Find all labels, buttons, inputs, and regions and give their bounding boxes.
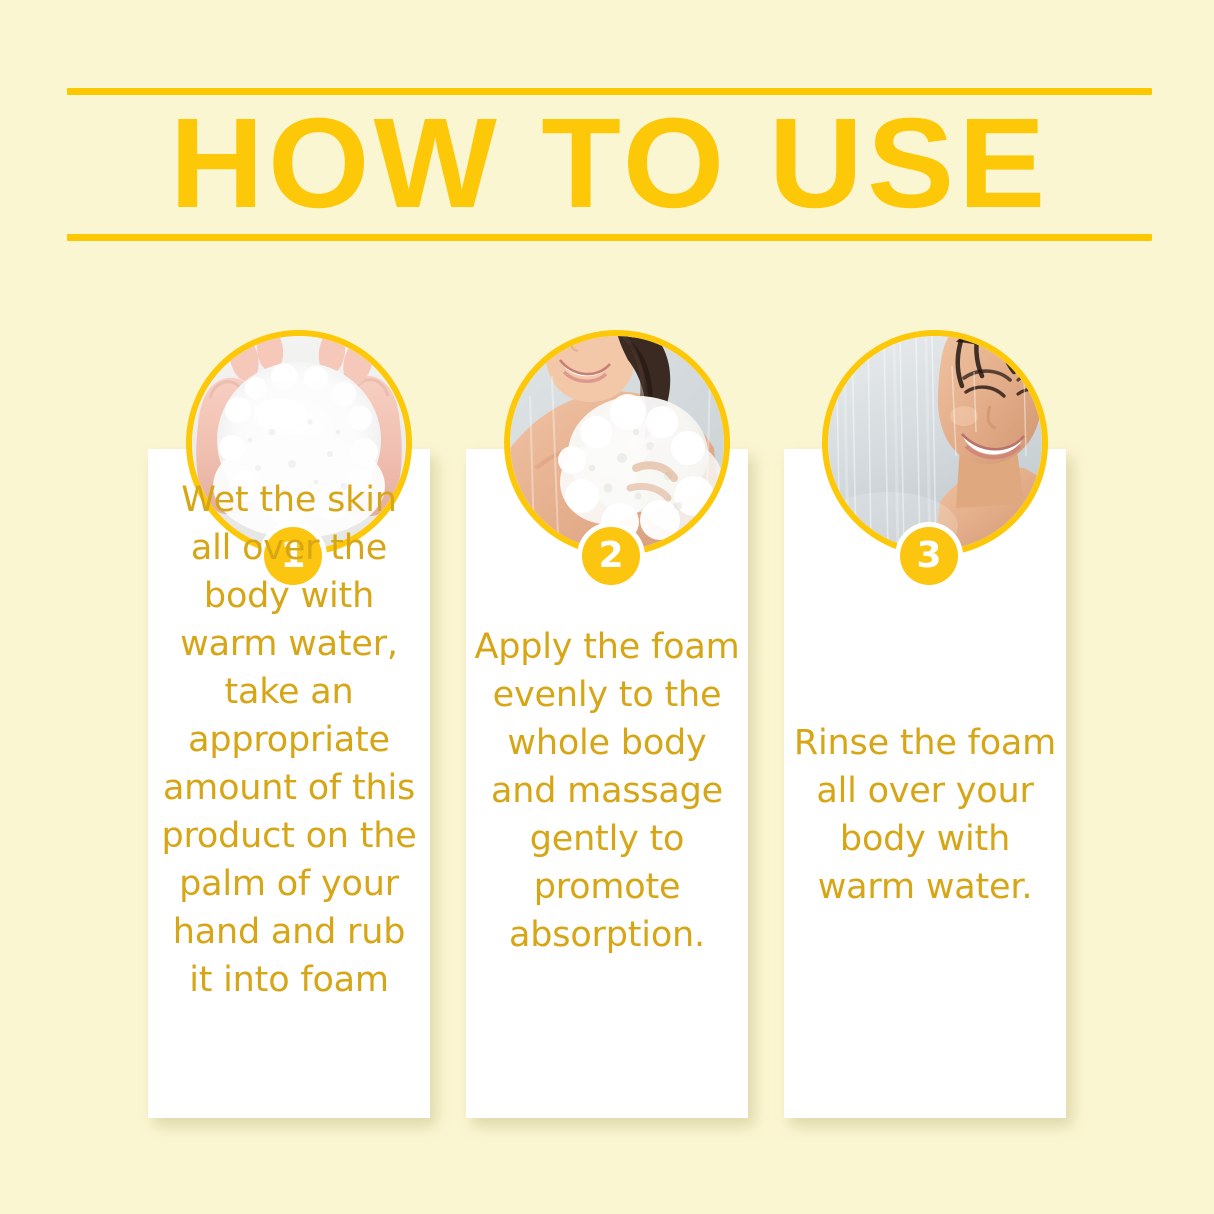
step-number-badge-3: 3 [900, 527, 958, 585]
step-number-badge-2: 2 [582, 527, 640, 585]
step-badge-wrapper-2: 2 [577, 522, 645, 590]
steps-container: 1 Wet the skin all over the body with wa… [0, 0, 1214, 1214]
step-card-2: 2 Apply the foam evenly to the whole bod… [466, 330, 748, 1120]
step-description-2: Apply the foam evenly to the whole body … [474, 623, 740, 959]
woman-applying-foam-to-shoulder-photo [510, 336, 724, 550]
step-card-3: 3 Rinse the foam all over your body with… [784, 330, 1066, 1120]
step-description-1: Wet the skin all over the body with warm… [156, 476, 422, 1004]
step-card-1: 1 Wet the skin all over the body with wa… [148, 330, 430, 1120]
woman-rinsing-in-shower-photo [828, 336, 1042, 550]
step-badge-wrapper-3: 3 [895, 522, 963, 590]
step-description-3: Rinse the foam all over your body with w… [792, 719, 1058, 911]
